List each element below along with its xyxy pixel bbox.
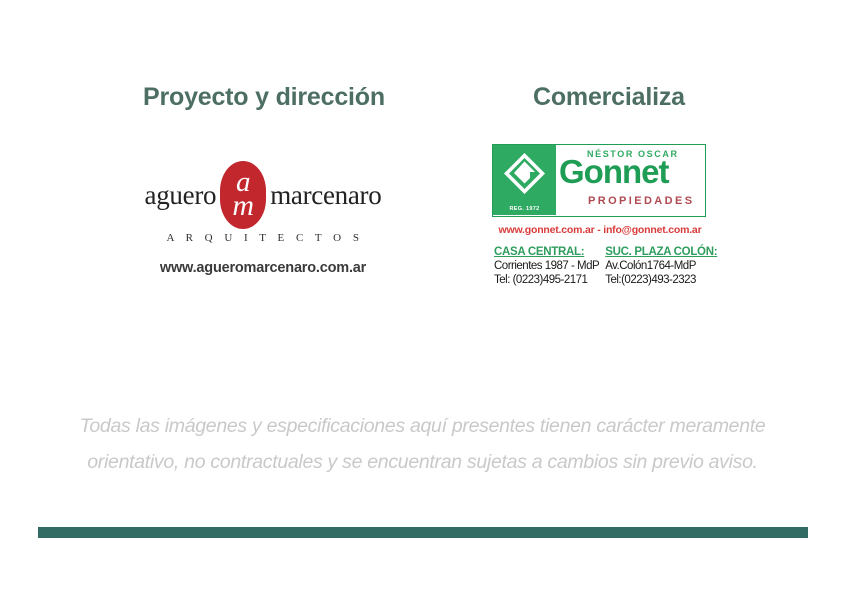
gonnet-emblem: REG. 1972 — [493, 145, 556, 215]
bottom-accent-bar — [38, 527, 808, 538]
branch-phone: Tel: (0223)495-2171 — [494, 274, 599, 286]
marcenaro-wordmark-right: marcenaro — [270, 182, 381, 209]
gonnet-tagline-propiedades: PROPIEDADES — [588, 195, 694, 207]
branch-title: SUC. PLAZA COLÓN: — [605, 246, 717, 258]
emblem-letter-m: m — [220, 191, 266, 221]
gonnet-wordmark: Gonnet — [559, 155, 668, 188]
gonnet-block: REG. 1972 NÉSTOR OSCAR Gonnet PROPIEDADE… — [492, 144, 708, 217]
aguero-marcenaro-emblem-icon: a m — [220, 161, 266, 229]
gonnet-registration-label: REG. 1972 — [493, 206, 556, 212]
aguero-marcenaro-subtitle: A R Q U I T E C T O S — [128, 232, 398, 244]
branch-address: Corrientes 1987 - MdP — [494, 260, 599, 272]
branch-casa-central: CASA CENTRAL: Corrientes 1987 - MdP Tel:… — [494, 246, 599, 286]
gonnet-g-diamond-icon — [504, 153, 545, 194]
gonnet-logo-card: REG. 1972 NÉSTOR OSCAR Gonnet PROPIEDADE… — [492, 144, 706, 217]
aguero-marcenaro-website[interactable]: www.agueromarcenaro.com.ar — [128, 260, 398, 276]
aguero-marcenaro-block: aguero a m marcenaro A R Q U I T E C T O… — [128, 160, 398, 285]
heading-comercializa: Comercializa — [533, 83, 685, 112]
branch-address: Av.Colón1764-MdP — [605, 260, 717, 272]
aguero-marcenaro-logo: aguero a m marcenaro — [128, 160, 398, 230]
gonnet-web-and-email[interactable]: www.gonnet.com.ar - info@gonnet.com.ar — [493, 224, 707, 236]
branch-phone: Tel:(0223)493-2323 — [605, 274, 717, 286]
disclaimer-text: Todas las imágenes y especificaciones aq… — [60, 408, 785, 480]
branch-suc-plaza-colon: SUC. PLAZA COLÓN: Av.Colón1764-MdP Tel:(… — [605, 246, 717, 286]
heading-proyecto-y-direccion: Proyecto y dirección — [143, 83, 385, 112]
aguero-wordmark-left: aguero — [145, 182, 217, 209]
branch-title: CASA CENTRAL: — [494, 246, 599, 258]
gonnet-branches: CASA CENTRAL: Corrientes 1987 - MdP Tel:… — [494, 246, 708, 286]
disclaimer-line-2: orientativo, no contractuales y se encue… — [60, 444, 785, 480]
gonnet-wordmark-group: NÉSTOR OSCAR Gonnet PROPIEDADES — [559, 145, 705, 215]
disclaimer-line-1: Todas las imágenes y especificaciones aq… — [60, 408, 785, 444]
